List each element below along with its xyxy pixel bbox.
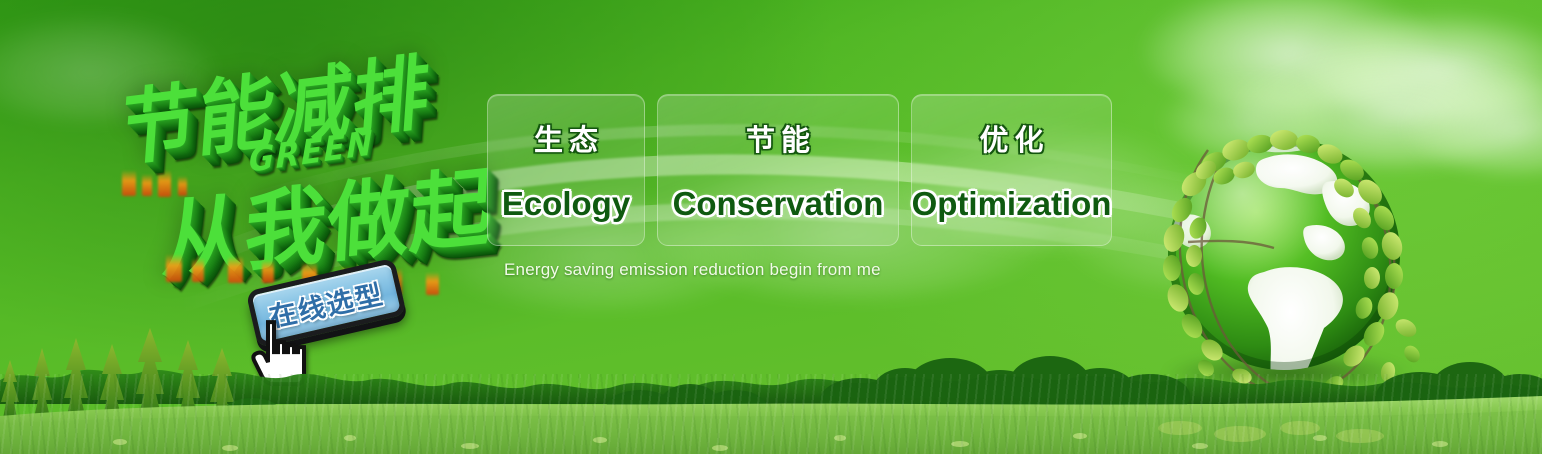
feature-card-ecology[interactable]: 生态 Ecology [487, 94, 645, 246]
feature-card-optimization[interactable]: 优化 Optimization [911, 94, 1112, 246]
pointer-hand-cursor-icon [246, 314, 310, 390]
feature-card-cn-label: 节能 [746, 117, 816, 159]
feature-card-en-label: Conservation [673, 185, 884, 223]
green-energy-banner: 节能减排 GREEN 从我做起 在线选型 生态 Ecology 节能 Conse… [0, 0, 1542, 454]
cloud-shape [1400, 70, 1542, 175]
banner-tagline: Energy saving emission reduction begin f… [504, 260, 881, 280]
leafy-earth-globe-icon [1148, 122, 1420, 394]
feature-card-conservation[interactable]: 节能 Conservation [657, 94, 899, 246]
feature-card-cn-label: 优化 [979, 117, 1049, 159]
cloud-shape [1140, 0, 1440, 112]
online-selection-cta[interactable]: 在线选型 [246, 254, 427, 366]
cloud-shape [0, 12, 220, 122]
cloud-shape [1300, 10, 1542, 120]
feature-card-en-label: Ecology [502, 185, 630, 223]
feature-card-cn-label: 生态 [534, 117, 604, 159]
headline-3d-text: 节能减排 GREEN 从我做起 [96, 36, 496, 271]
feature-card-en-label: Optimization [912, 185, 1112, 223]
feature-cards-group: 生态 Ecology 节能 Conservation 优化 Optimizati… [487, 94, 1112, 246]
headline-top-line: 节能减排 [117, 25, 434, 183]
headline-middle-line: GREEN [249, 123, 374, 181]
